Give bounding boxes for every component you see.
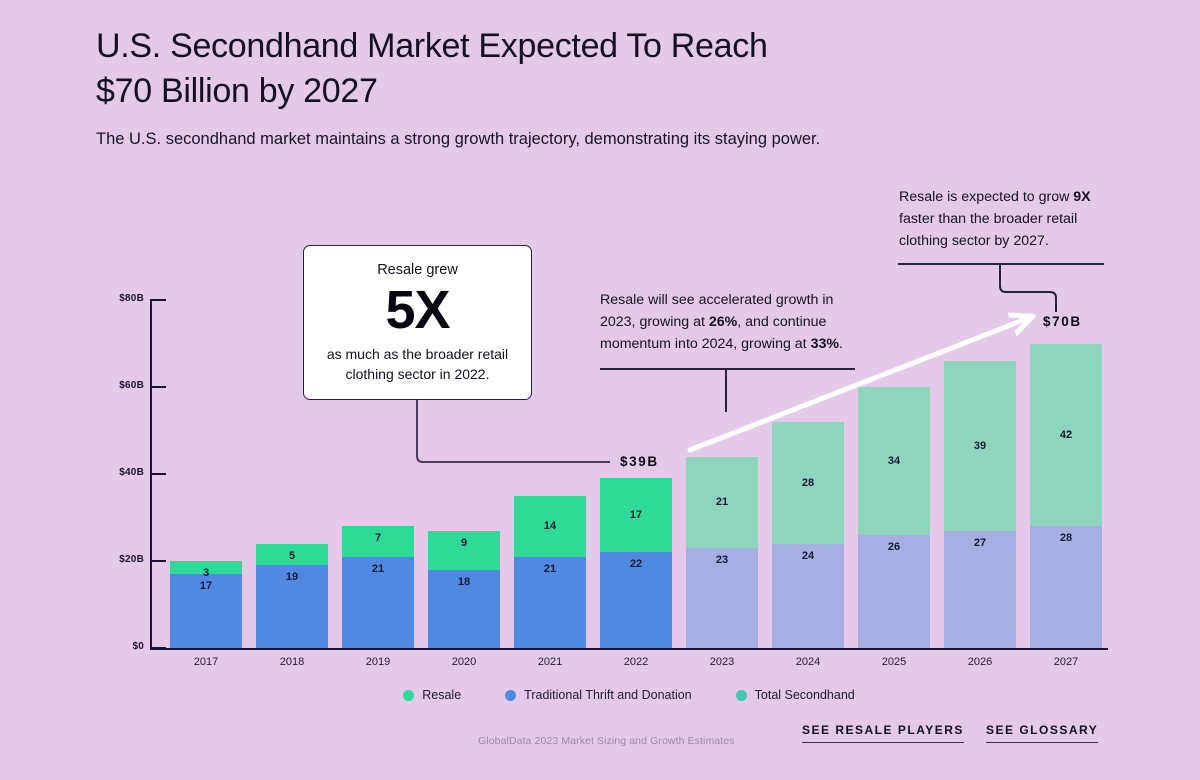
ninex-annotation-text: Resale is expected to grow 9X faster tha…: [899, 186, 1114, 252]
legend-label: Traditional Thrift and Donation: [524, 688, 691, 702]
growth-rate-2023: 26%: [709, 314, 737, 330]
y-axis-label: $0: [84, 641, 144, 652]
bar-value-resale: 9: [428, 537, 500, 549]
growth-line1: Resale will see accelerated growth in: [600, 292, 833, 308]
growth-line3-c: .: [839, 336, 843, 352]
x-axis-label-2020: 2020: [421, 656, 507, 668]
callout-bottom-line-1: as much as the broader retail: [327, 344, 508, 364]
bar-segment-resale[interactable]: 17: [600, 478, 672, 552]
bar-segment-thrift[interactable]: 22: [600, 552, 672, 648]
bar-segment-resale[interactable]: 3: [170, 561, 242, 574]
x-axis-label-2027: 2027: [1023, 656, 1109, 668]
bar-value-resale: 34: [858, 455, 930, 467]
bar-segment-thrift[interactable]: 23: [686, 548, 758, 648]
x-axis-label-2017: 2017: [163, 656, 249, 668]
legend-item[interactable]: Resale: [403, 688, 461, 702]
legend-swatch-icon: [505, 690, 516, 701]
bar-value-thrift: 17: [170, 580, 242, 592]
bar-segment-thrift[interactable]: 17: [170, 574, 242, 648]
bar-segment-resale[interactable]: 7: [342, 526, 414, 556]
growth-line2-a: 2023, growing at: [600, 314, 709, 330]
bar-segment-thrift[interactable]: 21: [342, 557, 414, 648]
bar-segment-thrift[interactable]: 18: [428, 570, 500, 648]
bar-value-thrift: 19: [256, 571, 328, 583]
bar-value-thrift: 24: [772, 550, 844, 562]
x-axis-label-2018: 2018: [249, 656, 335, 668]
y-axis-line: [150, 300, 152, 650]
bar-value-thrift: 28: [1030, 532, 1102, 544]
growth-line2-c: , and continue: [737, 314, 826, 330]
bar-value-resale: 5: [256, 550, 328, 562]
bar-value-resale: 14: [514, 520, 586, 532]
bar-value-resale: 28: [772, 477, 844, 489]
bar-segment-resale[interactable]: 28: [772, 422, 844, 544]
bar-value-thrift: 22: [600, 558, 672, 570]
infographic-root: U.S. Secondhand Market Expected To Reach…: [0, 0, 1200, 780]
legend-item[interactable]: Traditional Thrift and Donation: [505, 688, 691, 702]
y-axis-label: $80B: [84, 293, 144, 304]
value-label-39b: $39B: [620, 454, 659, 469]
y-axis-tick: [150, 560, 166, 562]
ninex-line3: clothing sector by 2027.: [899, 230, 1114, 252]
ninex-line1-a: Resale is expected to grow: [899, 189, 1073, 205]
bar-segment-resale[interactable]: 39: [944, 361, 1016, 531]
legend-swatch-icon: [403, 690, 414, 701]
bar-segment-resale[interactable]: 21: [686, 457, 758, 548]
value-label-70b: $70B: [1043, 314, 1082, 329]
legend-label: Resale: [422, 688, 461, 702]
y-axis-label: $40B: [84, 467, 144, 478]
bar-segment-thrift[interactable]: 26: [858, 535, 930, 648]
bar-segment-thrift[interactable]: 19: [256, 565, 328, 648]
x-axis-label-2021: 2021: [507, 656, 593, 668]
callout-top-text: Resale grew: [377, 262, 458, 278]
callout-multiplier: 5X: [385, 280, 449, 340]
source-note: GlobalData 2023 Market Sizing and Growth…: [478, 735, 735, 747]
x-axis-label-2022: 2022: [593, 656, 679, 668]
bar-value-thrift: 27: [944, 537, 1016, 549]
growth-line3-a: momentum into 2024, growing at: [600, 336, 811, 352]
see-resale-players-link[interactable]: SEE RESALE PLAYERS: [802, 723, 964, 743]
y-axis-label: $20B: [84, 554, 144, 565]
resale-growth-callout-card: Resale grew 5X as much as the broader re…: [303, 245, 532, 400]
bar-segment-resale[interactable]: 14: [514, 496, 586, 557]
legend-item[interactable]: Total Secondhand: [736, 688, 855, 702]
bar-segment-thrift[interactable]: 21: [514, 557, 586, 648]
bar-value-resale: 39: [944, 440, 1016, 452]
bar-value-thrift: 18: [428, 576, 500, 588]
y-axis-label: $60B: [84, 380, 144, 391]
bar-value-resale: 21: [686, 496, 758, 508]
bar-value-resale: 7: [342, 532, 414, 544]
bar-value-resale: 17: [600, 509, 672, 521]
y-axis-tick: [150, 647, 166, 649]
bar-segment-resale[interactable]: 5: [256, 544, 328, 566]
legend-label: Total Secondhand: [755, 688, 855, 702]
stacked-bar-chart: $0$20B$40B$60B$80B1732017195201821720191…: [0, 0, 1200, 780]
x-axis-label-2024: 2024: [765, 656, 851, 668]
bar-segment-thrift[interactable]: 27: [944, 531, 1016, 648]
see-glossary-link[interactable]: SEE GLOSSARY: [986, 723, 1098, 743]
x-axis-label-2019: 2019: [335, 656, 421, 668]
bar-value-resale: 42: [1030, 429, 1102, 441]
bar-segment-resale[interactable]: 34: [858, 387, 930, 535]
callout-bottom-line-2: clothing sector in 2022.: [327, 364, 508, 384]
x-axis-line: [150, 648, 1108, 650]
x-axis-label-2025: 2025: [851, 656, 937, 668]
x-axis-label-2026: 2026: [937, 656, 1023, 668]
y-axis-tick: [150, 386, 166, 388]
bar-value-resale: 3: [170, 567, 242, 579]
chart-legend: ResaleTraditional Thrift and DonationTot…: [150, 688, 1108, 702]
bar-value-thrift: 26: [858, 541, 930, 553]
bar-value-thrift: 21: [514, 563, 586, 575]
legend-swatch-icon: [736, 690, 747, 701]
bar-segment-resale[interactable]: 9: [428, 531, 500, 570]
callout-bottom-text: as much as the broader retail clothing s…: [327, 344, 508, 384]
ninex-line2: faster than the broader retail: [899, 208, 1114, 230]
bar-value-thrift: 23: [686, 554, 758, 566]
y-axis-tick: [150, 299, 166, 301]
x-axis-label-2023: 2023: [679, 656, 765, 668]
bar-value-thrift: 21: [342, 563, 414, 575]
growth-rate-2024: 33%: [811, 336, 839, 352]
bar-segment-thrift[interactable]: 24: [772, 544, 844, 648]
growth-annotation-text: Resale will see accelerated growth in 20…: [600, 289, 870, 355]
bar-segment-resale[interactable]: 42: [1030, 344, 1102, 527]
bar-segment-thrift[interactable]: 28: [1030, 526, 1102, 648]
ninex-multiplier: 9X: [1073, 189, 1090, 205]
y-axis-tick: [150, 473, 166, 475]
